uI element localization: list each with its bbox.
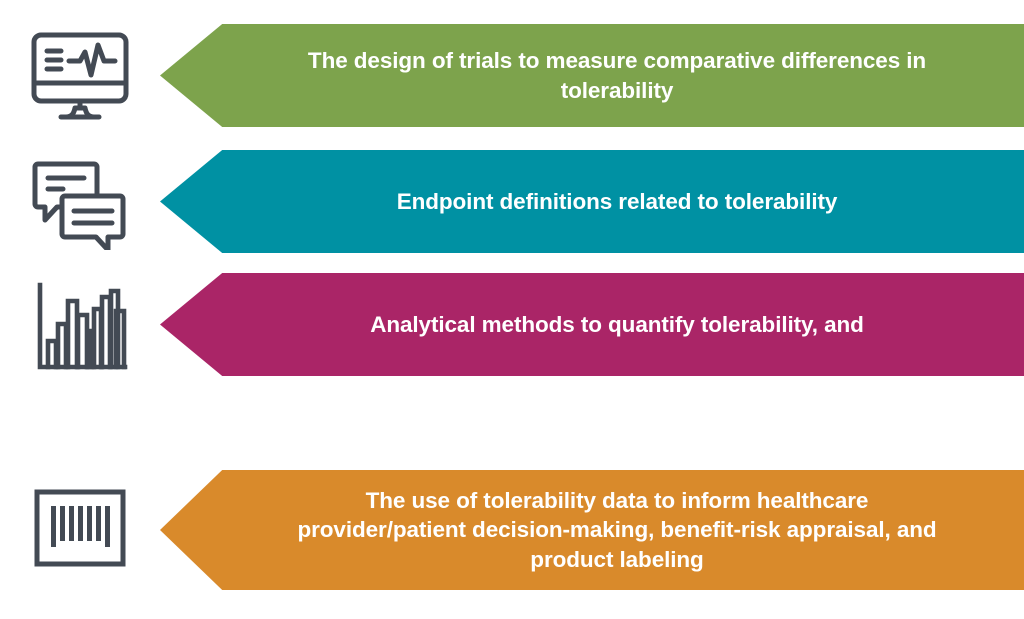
infographic-board: The design of trials to measure comparat… bbox=[0, 0, 1024, 619]
list-item: The design of trials to measure comparat… bbox=[0, 24, 1024, 127]
speech-bubbles-icon bbox=[26, 158, 134, 250]
bar-chart-icon bbox=[26, 279, 134, 375]
banner-design-of-trials[interactable]: The design of trials to measure comparat… bbox=[160, 24, 1024, 127]
list-item: Endpoint definitions related to tolerabi… bbox=[0, 150, 1024, 253]
banner-label: Analytical methods to quantify tolerabil… bbox=[160, 310, 1024, 339]
banner-tolerability-data-use[interactable]: The use of tolerability data to inform h… bbox=[160, 470, 1024, 590]
banner-label: Endpoint definitions related to tolerabi… bbox=[160, 187, 1024, 216]
list-item: Analytical methods to quantify tolerabil… bbox=[0, 273, 1024, 376]
barcode-icon bbox=[26, 484, 134, 576]
list-item: The use of tolerability data to inform h… bbox=[0, 470, 1024, 590]
banner-endpoint-definitions[interactable]: Endpoint definitions related to tolerabi… bbox=[160, 150, 1024, 253]
banner-label: The use of tolerability data to inform h… bbox=[160, 486, 1024, 574]
banner-analytical-methods[interactable]: Analytical methods to quantify tolerabil… bbox=[160, 273, 1024, 376]
banner-label: The design of trials to measure comparat… bbox=[160, 46, 1024, 105]
monitor-vitals-icon bbox=[26, 30, 134, 122]
